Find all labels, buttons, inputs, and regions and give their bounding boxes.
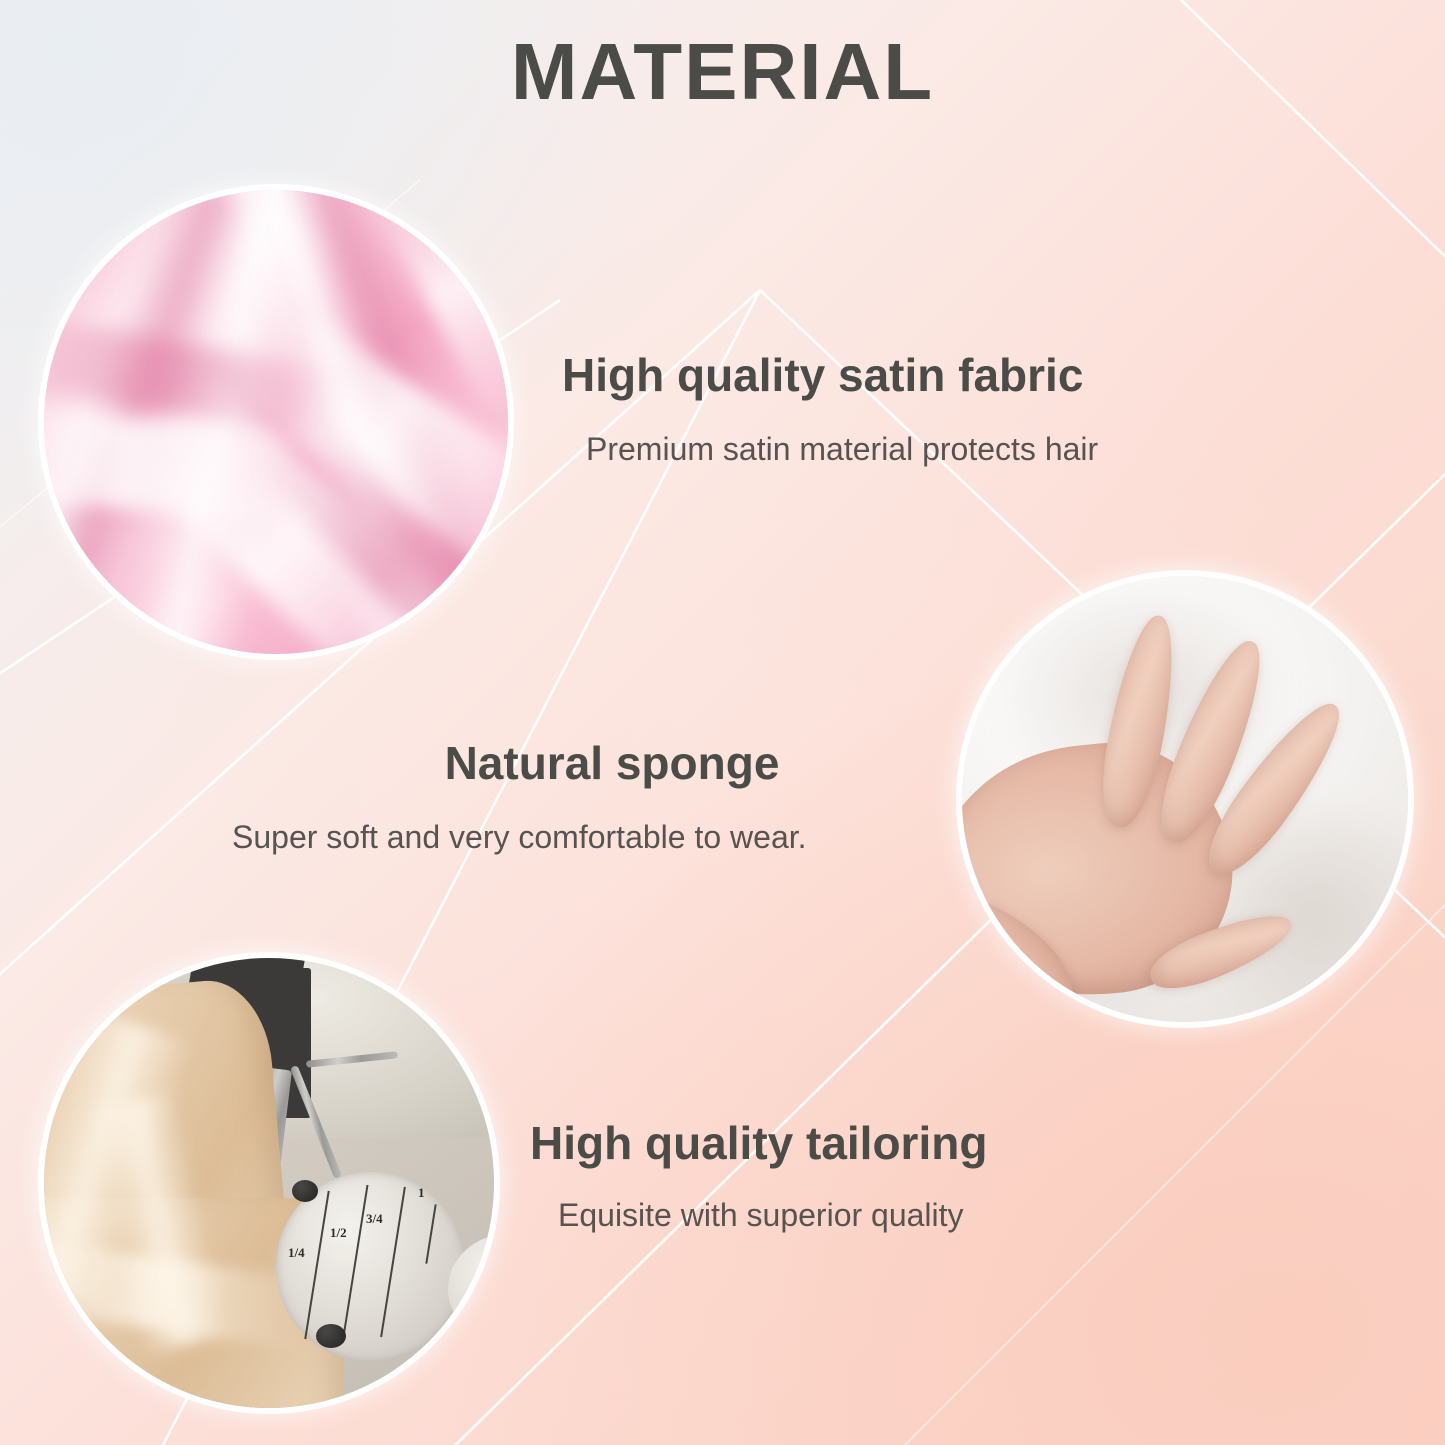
sponge-artwork: [962, 576, 1408, 1022]
feature-satin-subtitle: Premium satin material protects hair: [562, 429, 1098, 471]
feature-sponge-heading: Natural sponge: [232, 736, 932, 791]
sewing-machine-artwork: 1/4 1/2 3/4 1: [44, 958, 494, 1408]
seam-mark-quarter-numerator: 1/4: [288, 1246, 305, 1259]
feature-tailoring-heading: High quality tailoring: [530, 1116, 987, 1171]
feature-image-satin-fabric: [44, 190, 508, 654]
satin-fabric-artwork: [44, 190, 508, 654]
seam-mark-three-quarter: 3/4: [366, 1212, 383, 1225]
seam-mark-quarter: 1/4: [288, 1246, 305, 1259]
seam-mark-half: 1/2: [330, 1226, 347, 1239]
feature-text-satin: High quality satin fabric Premium satin …: [562, 348, 1098, 471]
feature-sponge-subtitle: Super soft and very comfortable to wear.: [232, 817, 932, 859]
feature-image-natural-sponge: [962, 576, 1408, 1022]
feature-image-sewing-machine: 1/4 1/2 3/4 1: [44, 958, 494, 1408]
infographic-canvas: MATERIAL: [0, 0, 1445, 1445]
feature-satin-heading: High quality satin fabric: [562, 348, 1098, 403]
feature-text-sponge: Natural sponge Super soft and very comfo…: [232, 736, 932, 859]
seam-mark-three-quarter-numerator: 3/4: [366, 1212, 383, 1225]
page-title: MATERIAL: [0, 28, 1445, 116]
seam-mark-one-numerator: 1: [418, 1186, 425, 1199]
feature-text-tailoring: High quality tailoring Equisite with sup…: [530, 1116, 987, 1237]
seam-mark-one: 1: [418, 1186, 425, 1199]
feature-tailoring-subtitle: Equisite with superior quality: [530, 1195, 987, 1237]
seam-mark-half-numerator: 1/2: [330, 1226, 347, 1239]
